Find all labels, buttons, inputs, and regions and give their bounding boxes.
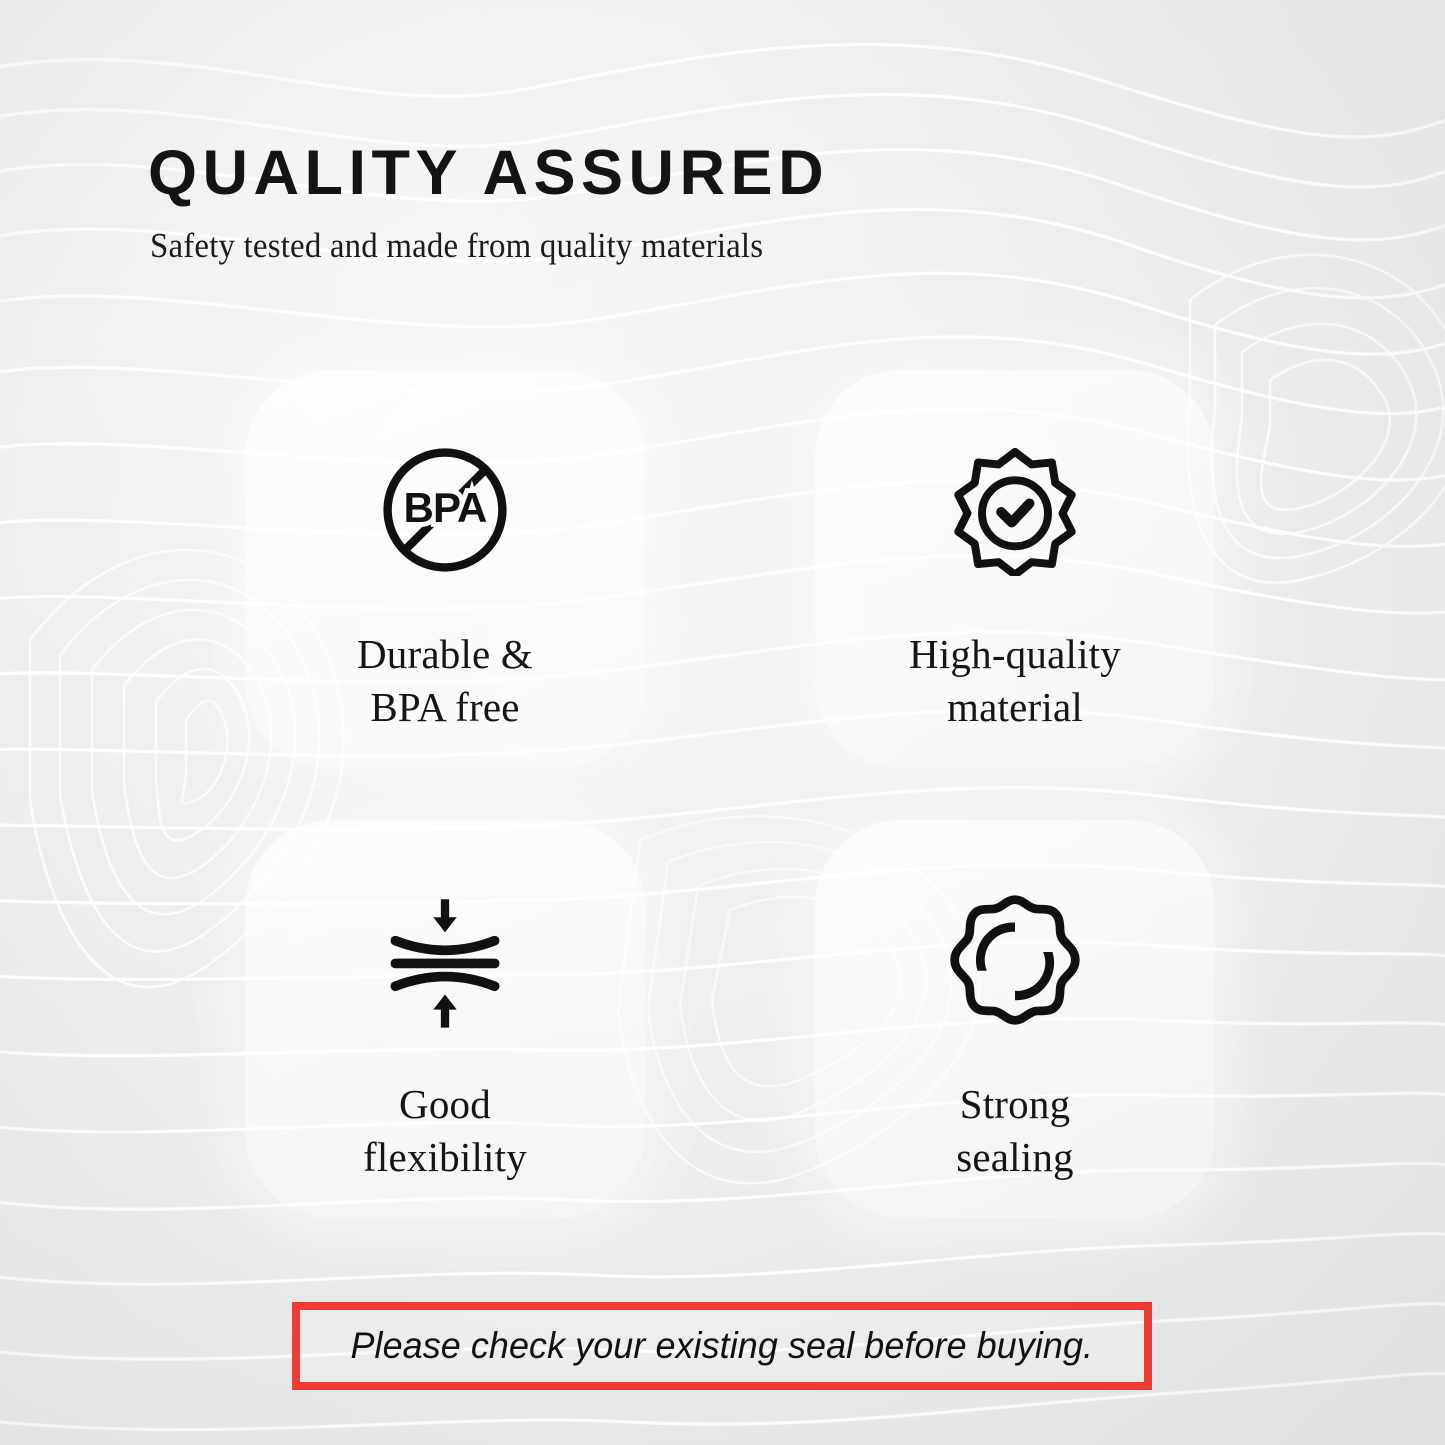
feature-label: Good flexibility: [363, 1078, 527, 1185]
svg-text:BPA: BPA: [403, 484, 487, 531]
page-title: QUALITY ASSURED: [148, 142, 1248, 205]
no-bpa-icon: BPA BPA: [371, 436, 519, 584]
notice-text: Please check your existing seal before b…: [351, 1325, 1094, 1367]
feature-grid: BPA BPA Durable & BPA free High-qua: [245, 370, 1195, 1260]
feature-tile-good-flexibility: Good flexibility: [245, 820, 645, 1218]
infographic-canvas: QUALITY ASSURED Safety tested and made f…: [0, 0, 1445, 1445]
feature-tile-bpa-free: BPA BPA Durable & BPA free: [245, 370, 645, 768]
header-block: QUALITY ASSURED Safety tested and made f…: [148, 142, 1248, 266]
feature-tile-high-quality-material: High-quality material: [815, 370, 1215, 768]
feature-label: Durable & BPA free: [357, 628, 533, 735]
feature-tile-strong-sealing: Strong sealing: [815, 820, 1215, 1218]
feature-label: High-quality material: [909, 628, 1121, 735]
seal-check-notice-banner: Please check your existing seal before b…: [292, 1302, 1152, 1390]
flexibility-compression-icon: [371, 886, 519, 1034]
seal-stamp-icon: [941, 886, 1089, 1034]
feature-label: Strong sealing: [956, 1078, 1074, 1185]
quality-badge-check-icon: [941, 436, 1089, 584]
page-subtitle: Safety tested and made from quality mate…: [150, 227, 1182, 266]
